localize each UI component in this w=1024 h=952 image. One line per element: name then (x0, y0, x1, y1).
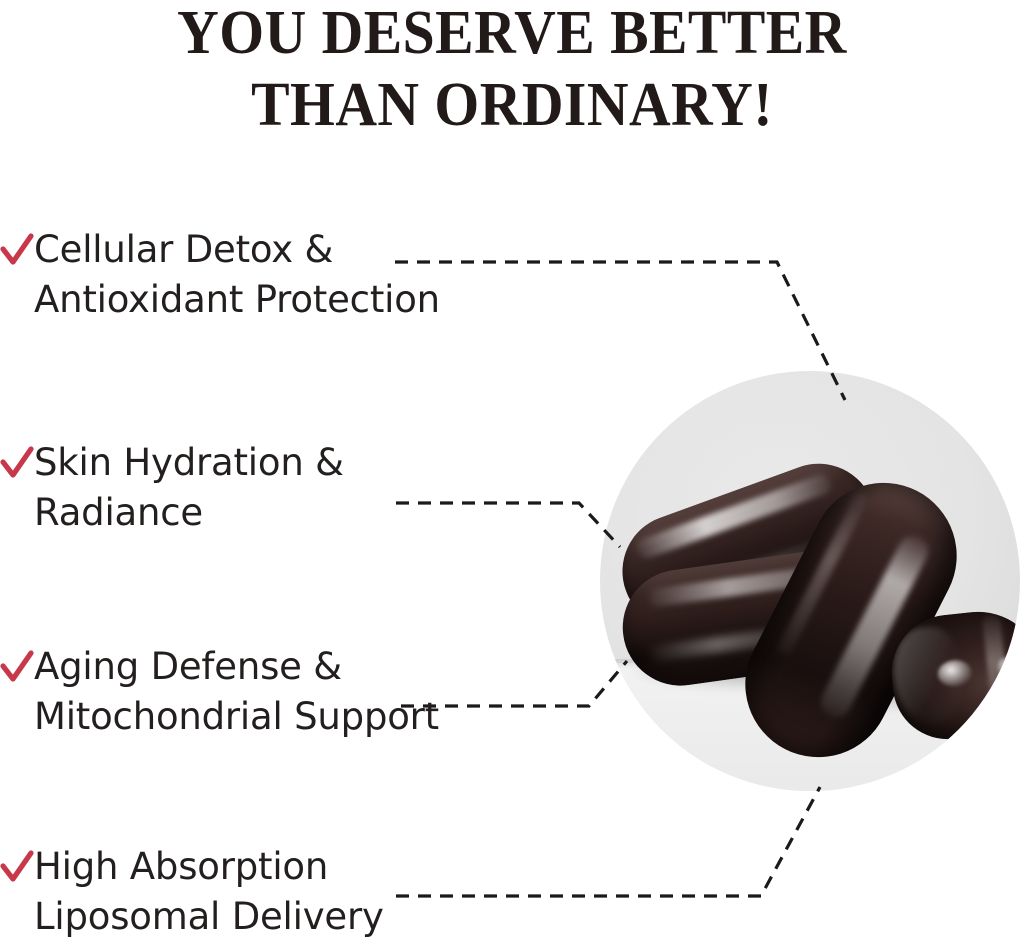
benefit-item-skin-hydration: Skin Hydration & Radiance (0, 438, 560, 538)
check-icon (0, 227, 34, 273)
check-icon (0, 440, 34, 486)
check-icon (0, 844, 34, 890)
headline-line-2: THAN ORDINARY! (36, 64, 988, 136)
headline-line-1: YOU DESERVE BETTER (36, 0, 988, 64)
benefit-item-high-absorption: High Absorption Liposomal Delivery (0, 842, 560, 942)
page-title: YOU DESERVE BETTER THAN ORDINARY! (0, 0, 1024, 136)
check-icon (0, 644, 34, 690)
benefit-label: Skin Hydration & Radiance (34, 438, 344, 538)
product-image (600, 371, 1020, 791)
benefit-label: Cellular Detox & Antioxidant Protection (34, 225, 440, 325)
benefit-item-cellular-detox: Cellular Detox & Antioxidant Protection (0, 225, 560, 325)
benefit-item-aging-defense: Aging Defense & Mitochondrial Support (0, 642, 560, 742)
benefit-label: High Absorption Liposomal Delivery (34, 842, 384, 942)
benefit-label: Aging Defense & Mitochondrial Support (34, 642, 439, 742)
infographic-root: YOU DESERVE BETTER THAN ORDINARY! (0, 0, 1024, 952)
